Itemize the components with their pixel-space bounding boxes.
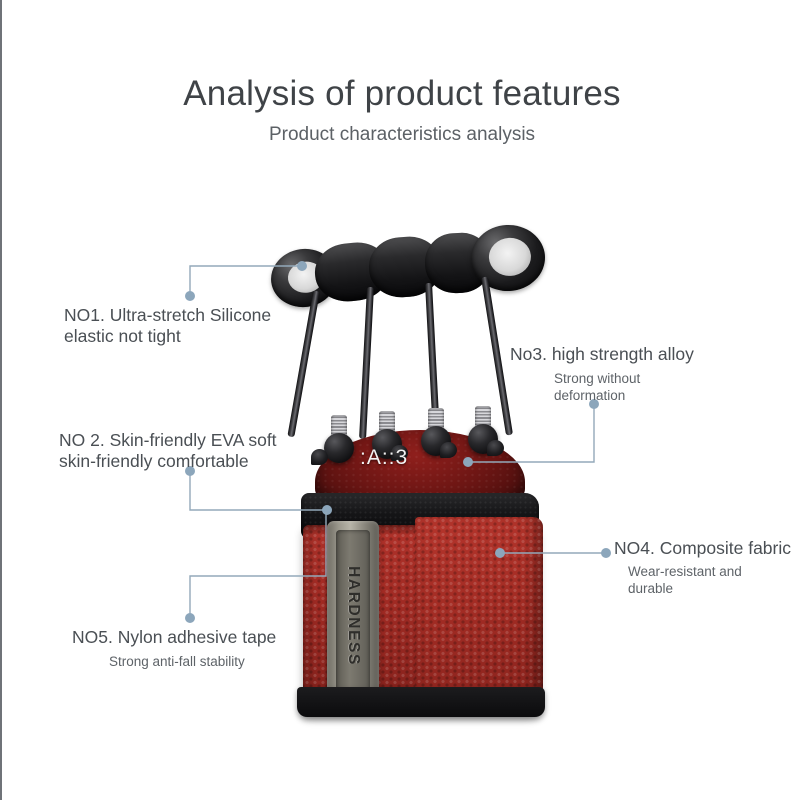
callout-no2: NO 2. Skin-friendly EVA soft skin-friend… [59, 430, 277, 472]
knob-tail-1 [311, 449, 328, 465]
page-subtitle: Product characteristics analysis [2, 124, 800, 146]
callout-no4: NO4. Composite fabric Wear-resistant and… [614, 538, 791, 597]
leader-dot-no5-label [185, 613, 195, 623]
plate-brand-text: HARDNESS [344, 566, 362, 666]
callout-no3: No3. high strength alloy Strong without … [510, 344, 694, 404]
leader-dot-no1-label [185, 291, 195, 301]
callout-no3-main: No3. high strength alloy [510, 344, 694, 365]
callout-no1: NO1. Ultra-stretch Silicone elastic not … [64, 305, 271, 347]
infographic-page: Analysis of product features Product cha… [0, 0, 800, 800]
fabric-weave-texture-right [415, 517, 543, 713]
strap-base [297, 687, 545, 717]
knob-tail-4 [487, 440, 504, 456]
finger-ring-row [257, 225, 577, 325]
knob-1 [324, 433, 354, 463]
product-overlay-text: :A::3 [360, 446, 408, 470]
callout-no4-main: NO4. Composite fabric [614, 538, 791, 559]
callout-no4-sub: Wear-resistant and durable [628, 563, 791, 597]
callout-no5-main: NO5. Nylon adhesive tape [72, 627, 276, 648]
callout-no2-main: NO 2. Skin-friendly EVA soft skin-friend… [59, 430, 277, 472]
callout-no5-sub: Strong anti-fall stability [109, 653, 276, 670]
ring-hole-4 [488, 237, 532, 277]
product-image: :A::3 HARDNESS [257, 225, 577, 720]
fabric-wrap-right [415, 517, 543, 713]
knob-tail-3 [440, 442, 457, 458]
callout-no1-main: NO1. Ultra-stretch Silicone elastic not … [64, 305, 271, 347]
hardness-metal-plate: HARDNESS [327, 521, 379, 711]
page-title: Analysis of product features [2, 74, 800, 114]
callout-no5: NO5. Nylon adhesive tape Strong anti-fal… [72, 627, 276, 670]
leader-dot-no4-label [601, 548, 611, 558]
callout-no3-sub: Strong without deformation [554, 370, 694, 404]
